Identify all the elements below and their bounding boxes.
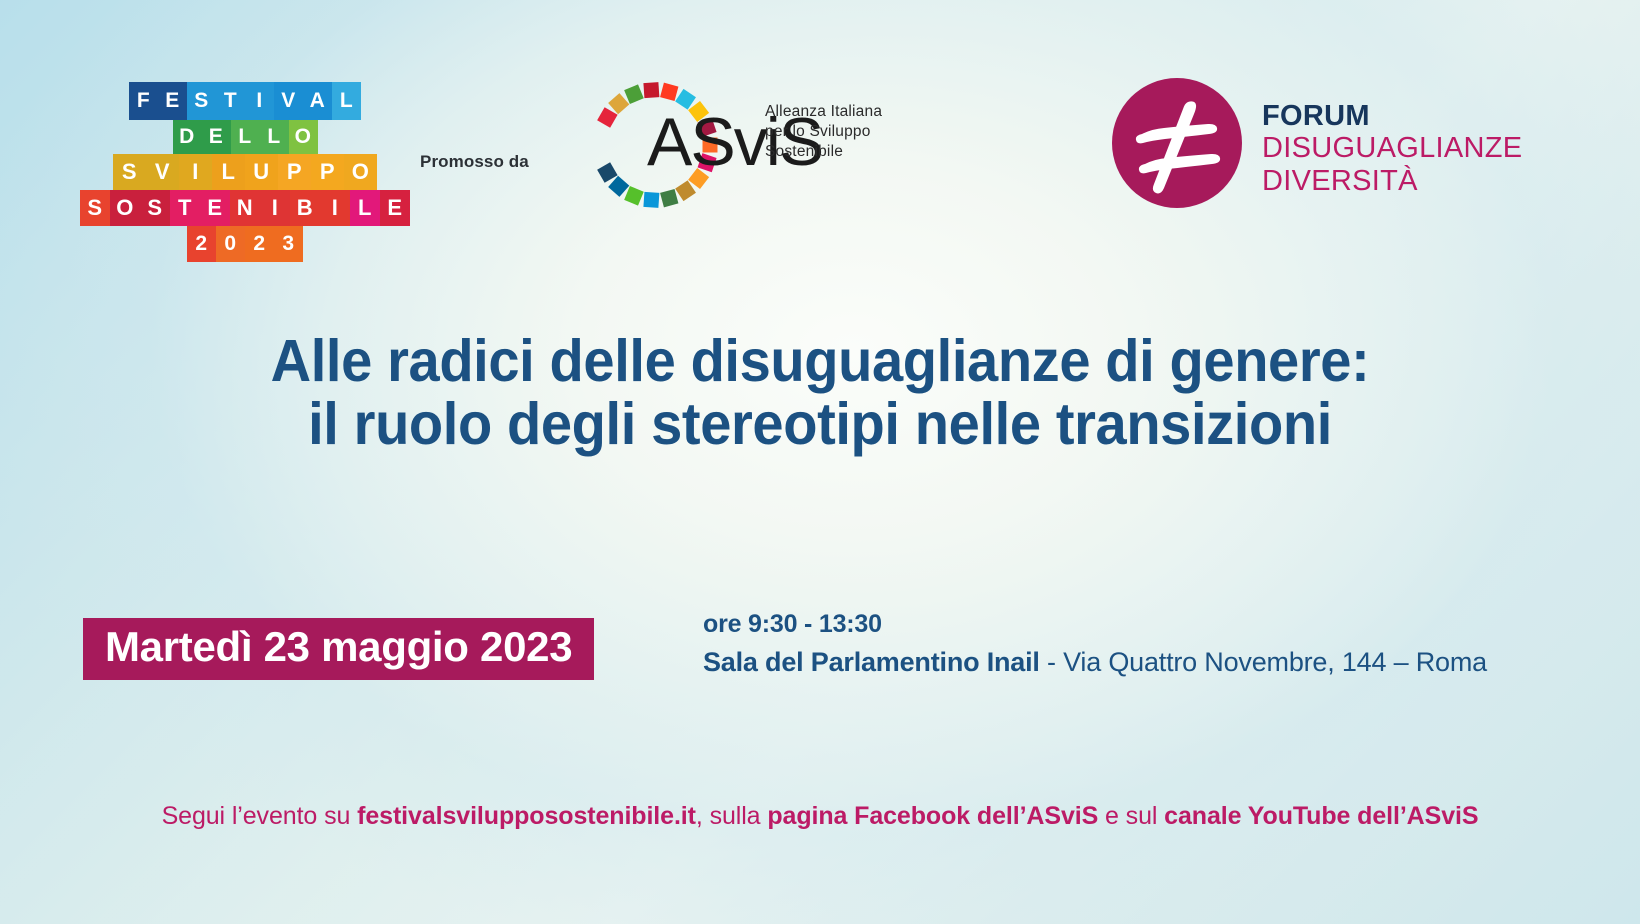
festival-logo-letter: E [202,120,231,154]
festival-logo-letter: 3 [274,226,303,262]
festival-logo-row-sostenibile: SOSTENIBILE [80,190,410,226]
event-title: Alle radici delle disuguaglianze di gene… [0,330,1640,456]
asvis-ring-square [597,107,617,127]
festival-logo-letter: S [113,154,146,190]
festival-logo-row-sviluppo: SVILUPPO [80,154,410,190]
festival-logo-letter: E [380,190,410,226]
festival-logo-letter: L [260,120,289,154]
forum-label-diversita: DIVERSITÀ [1262,165,1522,197]
header-logo-bar: FESTIVAL DELLO SVILUPPO SOSTENIBILE 2023… [0,70,1640,250]
festival-logo-letter: S [140,190,170,226]
asvis-ring-square [643,82,659,98]
festival-logo-letter: 2 [245,226,274,262]
festival-logo-letter: S [80,190,110,226]
footer-text-part-2: , sulla [696,802,767,830]
festival-logo-letter: 2 [187,226,216,262]
asvis-ring-square [624,84,644,104]
asvis-tagline-line-1: Alleanza Italiana [765,102,882,122]
footer-text-part-1: Segui l’evento su [162,802,358,830]
festival-logo-row-year: 2023 [80,226,410,262]
festival-logo-letter: A [303,82,332,120]
event-venue-address: - Via Quattro Novembre, 144 – Roma [1040,647,1487,677]
festival-logo-letter: 0 [216,226,245,262]
asvis-logo: ASviS Alleanza Italiana per lo Sviluppo … [585,70,905,230]
asvis-ring-square [660,189,678,207]
asvis-ring-square [608,93,629,114]
forum-disuguaglianze-diversita-logo: FORUM DISUGUAGLIANZE DIVERSITÀ [1112,78,1532,228]
event-venue: Sala del Parlamentino Inail - Via Quattr… [703,645,1487,680]
festival-logo-letter: F [129,82,158,120]
festival-logo-letter: P [311,154,344,190]
forum-logo-circle [1112,78,1242,208]
festival-logo-letter: E [200,190,230,226]
event-venue-name: Sala del Parlamentino Inail [703,647,1040,677]
footer-text-part-3: e sul [1098,802,1164,830]
festival-logo-letter: O [289,120,318,154]
festival-logo-row-festival: FESTIVAL [80,82,410,120]
festival-logo-letter: T [216,82,245,120]
event-time: ore 9:30 - 13:30 [703,608,1487,640]
asvis-ring-square [608,176,629,197]
festival-logo-letter: B [290,190,320,226]
festival-logo-letter: L [212,154,245,190]
festival-logo-letter: I [245,82,274,120]
asvis-ring-square [597,162,617,182]
festival-logo-letter: P [278,154,311,190]
event-title-line-1: Alle radici delle disuguaglianze di gene… [41,330,1599,393]
event-title-line-2: il ruolo degli stereotipi nelle transizi… [41,393,1599,456]
asvis-tagline-line-3: Sostenibile [765,142,882,162]
festival-logo-letter: L [332,82,361,120]
asvis-tagline: Alleanza Italiana per lo Sviluppo Sosten… [765,102,882,161]
event-details: Martedì 23 maggio 2023 ore 9:30 - 13:30 … [0,608,1640,698]
festival-logo-letter: I [320,190,350,226]
festival-logo-letter: S [187,82,216,120]
asvis-ring-square [660,83,678,101]
festival-logo-letter: L [350,190,380,226]
festival-logo-letter: N [230,190,260,226]
festival-logo-letter: O [344,154,377,190]
promosso-da-label: Promosso da [420,152,529,172]
footer-link-youtube[interactable]: canale YouTube dell’ASviS [1164,802,1478,830]
footer-link-website[interactable]: festivalsvilupposostenibile.it [357,802,696,830]
festival-logo-letter: D [173,120,202,154]
asvis-ring-square [643,192,659,208]
not-equal-icon [1112,78,1242,208]
festival-logo-letter: E [158,82,187,120]
event-date-badge: Martedì 23 maggio 2023 [83,618,594,680]
asvis-ring-square [624,186,644,206]
festival-logo-letter: I [179,154,212,190]
forum-label-disuguaglianze: DISUGUAGLIANZE [1262,132,1522,164]
footer-link-facebook[interactable]: pagina Facebook dell’ASviS [767,802,1098,830]
festival-sviluppo-sostenibile-logo: FESTIVAL DELLO SVILUPPO SOSTENIBILE 2023 [80,82,410,262]
festival-logo-letter: V [146,154,179,190]
asvis-tagline-line-2: per lo Sviluppo [765,122,882,142]
festival-logo-letter: U [245,154,278,190]
festival-logo-letter: L [231,120,260,154]
follow-event-footer: Segui l’evento su festivalsviluppososten… [0,802,1640,831]
festival-logo-row-dello: DELLO [80,120,410,154]
festival-logo-letter: O [110,190,140,226]
festival-logo-letter: I [260,190,290,226]
festival-logo-letter: V [274,82,303,120]
forum-label-forum: FORUM [1262,100,1522,132]
festival-logo-letter: T [170,190,200,226]
event-time-and-venue: ore 9:30 - 13:30 Sala del Parlamentino I… [703,608,1487,680]
forum-logo-text: FORUM DISUGUAGLIANZE DIVERSITÀ [1262,100,1522,197]
